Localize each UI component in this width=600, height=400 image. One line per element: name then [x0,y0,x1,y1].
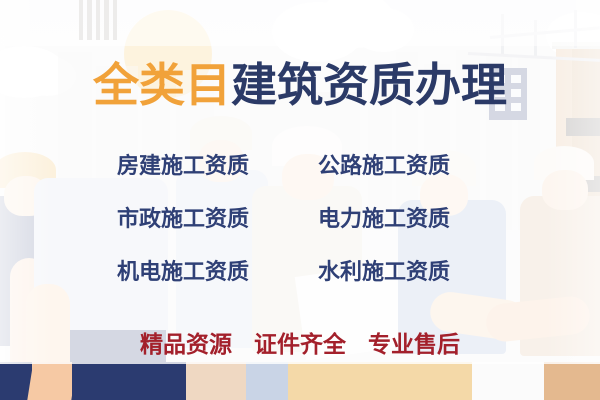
tagline-item-quality: 精品资源 [140,332,232,358]
headline-highlight: 全类目 [93,58,231,112]
service-grid: 房建施工资质 公路施工资质 市政施工资质 电力施工资质 机电施工资质 水利施工资… [0,156,600,315]
service-item-shizheng[interactable]: 市政施工资质 [85,209,300,231]
headline: 全类目建筑资质办理 [0,62,600,108]
service-item-jidian[interactable]: 机电施工资质 [85,262,300,284]
tagline-item-service: 专业售后 [368,332,460,358]
banner-content: 全类目建筑资质办理 房建施工资质 公路施工资质 市政施工资质 电力施工资质 机电… [0,0,600,400]
headline-main: 建筑资质办理 [231,58,507,112]
service-row: 机电施工资质 水利施工资质 [0,262,600,315]
promo-banner: 全类目建筑资质办理 房建施工资质 公路施工资质 市政施工资质 电力施工资质 机电… [0,0,600,400]
service-row: 市政施工资质 电力施工资质 [0,209,600,262]
service-row: 房建施工资质 公路施工资质 [0,156,600,209]
tagline-item-complete: 证件齐全 [254,332,346,358]
service-item-shuili[interactable]: 水利施工资质 [300,262,515,284]
service-item-fangjian[interactable]: 房建施工资质 [85,156,300,178]
tagline: 精品资源 证件齐全 专业售后 [0,334,600,357]
service-item-gonglu[interactable]: 公路施工资质 [300,156,515,178]
service-item-dianli[interactable]: 电力施工资质 [300,209,515,231]
